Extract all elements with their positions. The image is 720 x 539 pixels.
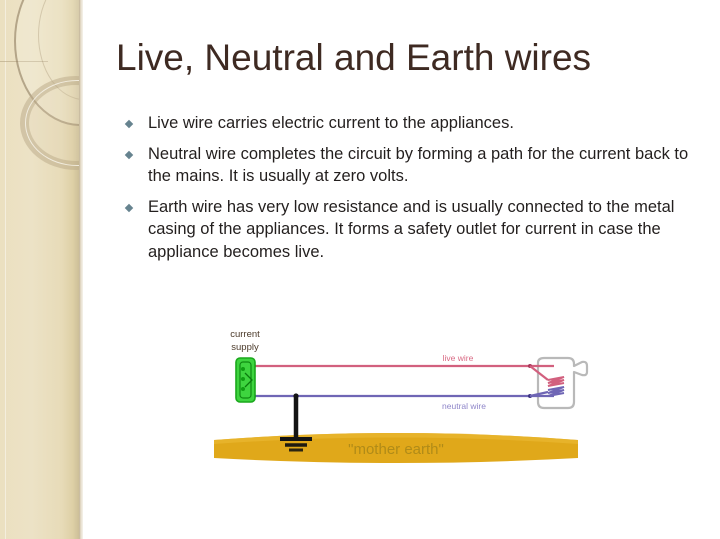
bullet-diamond-icon [125, 120, 133, 128]
current-supply-label-line2: supply [231, 342, 259, 353]
sidebar-highlight-stripe [5, 0, 6, 539]
list-item-text: Live wire carries electric current to th… [148, 112, 708, 135]
supply-box-terminal-2 [241, 377, 245, 381]
sidebar-edge-divider [79, 0, 83, 539]
slide-canvas: Live, Neutral and Earth wires Live wire … [0, 0, 720, 539]
household-wiring-circuit-diagram: "mother earth" live wire neutral wire [196, 322, 596, 472]
earth-wire-junction [293, 393, 298, 398]
page-title: Live, Neutral and Earth wires [116, 36, 696, 80]
list-item-text: Earth wire has very low resistance and i… [148, 196, 708, 264]
bullet-diamond-icon [125, 150, 133, 158]
bullet-diamond-icon [125, 203, 133, 211]
supply-box-terminal-1 [241, 367, 245, 371]
neutral-wire-label: neutral wire [442, 401, 486, 411]
bullet-list: Live wire carries electric current to th… [126, 112, 708, 271]
list-item: Live wire carries electric current to th… [126, 112, 708, 135]
supply-box-terminal-3 [241, 387, 245, 391]
decorative-sidebar [0, 0, 79, 539]
list-item: Earth wire has very low resistance and i… [126, 196, 708, 264]
current-supply-label-line1: current [230, 329, 260, 340]
mother-earth-label: "mother earth" [348, 441, 444, 458]
list-item-text: Neutral wire completes the circuit by fo… [148, 143, 708, 188]
list-item: Neutral wire completes the circuit by fo… [126, 143, 708, 188]
live-wire-label: live wire [443, 353, 474, 363]
